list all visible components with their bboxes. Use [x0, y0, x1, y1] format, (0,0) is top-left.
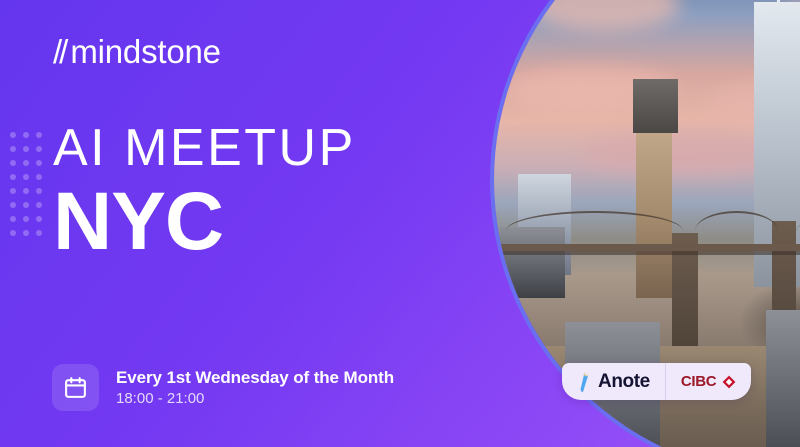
event-headline: AI MEETUP NYC: [53, 122, 356, 263]
schedule-text: Every 1st Wednesday of the Month 18:00 -…: [116, 367, 394, 409]
calendar-badge: [52, 364, 99, 411]
headline-line-1: AI MEETUP: [53, 122, 356, 174]
event-poster: // mindstone AI MEETUP NYC Every 1st Wed…: [0, 0, 800, 447]
schedule-block: Every 1st Wednesday of the Month 18:00 -…: [52, 364, 394, 411]
cibc-diamond-icon: [722, 375, 736, 389]
sponsor-anote-label: Anote: [598, 371, 650, 393]
schedule-title: Every 1st Wednesday of the Month: [116, 367, 394, 388]
logo-wordmark: mindstone: [70, 33, 220, 71]
schedule-time: 18:00 - 21:00: [116, 389, 394, 409]
mindstone-logo[interactable]: // mindstone: [53, 33, 221, 71]
headline-line-2: NYC: [53, 181, 356, 263]
anote-pen-icon: [577, 372, 592, 392]
dot-grid-decoration: [6, 128, 46, 240]
logo-slashes-icon: //: [53, 33, 65, 71]
sponsor-anote[interactable]: Anote: [562, 363, 665, 400]
sponsor-bar: Anote CIBC: [562, 363, 751, 400]
sponsor-cibc[interactable]: CIBC: [665, 363, 751, 400]
calendar-icon: [63, 375, 88, 400]
sponsor-cibc-label: CIBC: [681, 373, 716, 390]
